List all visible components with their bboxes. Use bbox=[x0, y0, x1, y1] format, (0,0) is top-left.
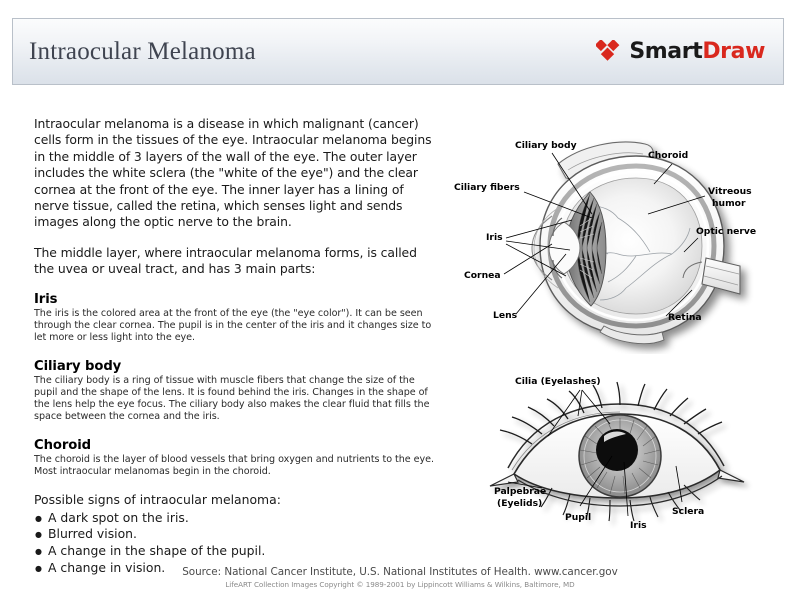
label-iris: Iris bbox=[486, 232, 503, 243]
header-bar: Intraocular Melanoma SmartDraw bbox=[12, 18, 784, 85]
list-item: A dark spot on the iris. bbox=[34, 510, 434, 527]
label-retina: Retina bbox=[668, 312, 702, 323]
footer-source-text: Source: National Cancer Institute, U.S. … bbox=[0, 566, 800, 578]
middle-layer-paragraph: The middle layer, where intraocular mela… bbox=[34, 245, 434, 278]
label-eyelids: (Eyelids) bbox=[497, 498, 542, 509]
section-heading-ciliary-body: Ciliary body bbox=[34, 359, 434, 374]
footer: Source: National Cancer Institute, U.S. … bbox=[0, 566, 800, 589]
list-item: Blurred vision. bbox=[34, 526, 434, 543]
label-humor: humor bbox=[712, 198, 746, 209]
label-ciliary-body: Ciliary body bbox=[515, 140, 577, 151]
logo-text-smart: Smart bbox=[629, 39, 702, 64]
eye-cross-section-diagram: Ciliary body Choroid Ciliary fibers Vitr… bbox=[440, 126, 792, 354]
content-column: Intraocular melanoma is a disease in whi… bbox=[34, 116, 434, 576]
page-title: Intraocular Melanoma bbox=[29, 38, 256, 66]
section-heading-iris: Iris bbox=[34, 292, 434, 307]
section-body-iris: The iris is the colored area at the fron… bbox=[34, 308, 434, 345]
section-body-ciliary-body: The ciliary body is a ring of tissue wit… bbox=[34, 375, 434, 424]
label-choroid: Choroid bbox=[648, 150, 688, 161]
label-cilia-eyelashes: Cilia (Eyelashes) bbox=[515, 376, 601, 387]
eye-globe-illustration bbox=[532, 142, 740, 344]
smartdraw-logo[interactable]: SmartDraw bbox=[596, 39, 765, 64]
smartdraw-logo-text: SmartDraw bbox=[629, 39, 765, 64]
footer-copyright-text: LifeART Collection Images Copyright © 19… bbox=[0, 580, 800, 589]
list-item: A change in the shape of the pupil. bbox=[34, 543, 434, 560]
signs-lead-text: Possible signs of intraocular melanoma: bbox=[34, 492, 434, 508]
section-heading-choroid: Choroid bbox=[34, 438, 434, 453]
external-eye-diagram: Cilia (Eyelashes) Palpebrae (Eyelids) Pu… bbox=[452, 370, 792, 532]
label-lens: Lens bbox=[493, 310, 518, 321]
label-cornea: Cornea bbox=[464, 270, 501, 281]
intro-paragraph: Intraocular melanoma is a disease in whi… bbox=[34, 116, 434, 231]
label-iris-external: Iris bbox=[630, 520, 647, 531]
label-vitreous: Vitreous bbox=[708, 186, 752, 197]
label-pupil: Pupil bbox=[565, 512, 591, 523]
label-palpebrae: Palpebrae bbox=[494, 486, 546, 497]
label-sclera: Sclera bbox=[672, 506, 704, 517]
label-optic-nerve: Optic nerve bbox=[696, 226, 756, 237]
label-ciliary-fibers: Ciliary fibers bbox=[454, 182, 520, 193]
smartdraw-diamond-logo-icon bbox=[596, 40, 622, 64]
logo-text-draw: Draw bbox=[702, 39, 765, 64]
section-body-choroid: The choroid is the layer of blood vessel… bbox=[34, 454, 434, 479]
